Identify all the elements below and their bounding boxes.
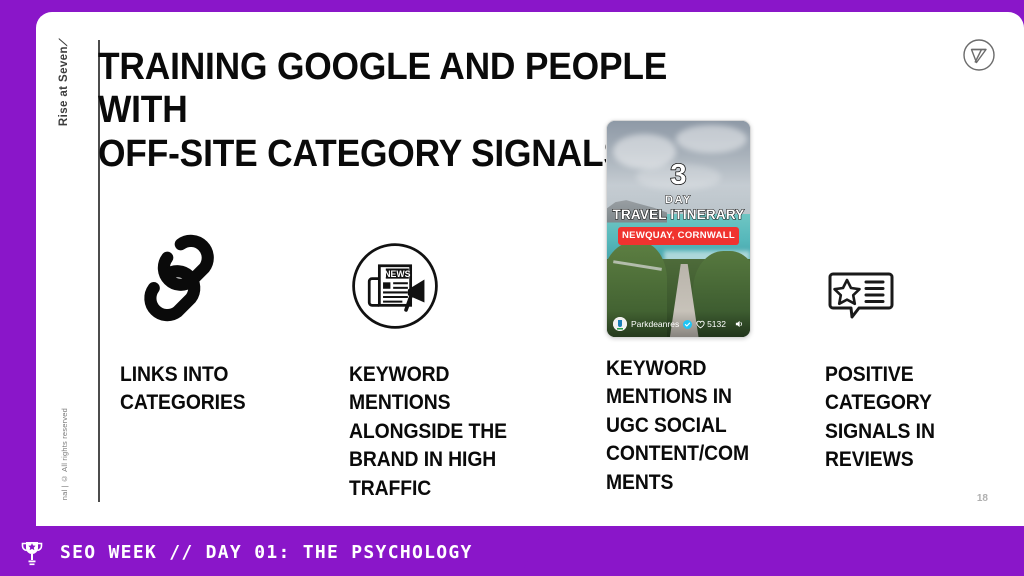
column-ugc-social-content: 3 DAY TRAVEL ITINERARY NEWQUAY, CORNWALL… bbox=[606, 120, 796, 496]
brand-vertical-label: Rise at Seven⟋ bbox=[58, 38, 70, 126]
like-count-value: 5132 bbox=[707, 319, 726, 329]
overlay-number: 3 bbox=[607, 161, 750, 190]
slide-card: Rise at Seven⟋ nal | © All rights reserv… bbox=[36, 12, 1024, 526]
like-count[interactable]: 5132 bbox=[696, 319, 726, 329]
chain-link-icon bbox=[120, 212, 320, 332]
heart-icon bbox=[696, 320, 705, 329]
sound-icon[interactable] bbox=[734, 319, 744, 329]
label-line-3: ALONGSIDE THE bbox=[349, 419, 507, 443]
brand-vertical-text: Rise at Seven bbox=[58, 46, 70, 126]
label-line-1: LINKS INTO bbox=[120, 362, 228, 386]
label-line-1: KEYWORD bbox=[606, 356, 706, 380]
legal-vertical-label: nal | © All rights reserved bbox=[60, 408, 69, 500]
label-line-5: TRAFFIC bbox=[349, 476, 431, 500]
label-line-2: MENTIONS bbox=[349, 390, 450, 414]
avatar[interactable] bbox=[613, 317, 627, 331]
label-line-4: CONTENT/COM bbox=[606, 441, 749, 465]
column-links-into-categories: LINKS INTO CATEGORIES bbox=[120, 212, 320, 417]
label-line-5: MENTS bbox=[606, 470, 673, 494]
footer-bar: SEO WEEK // DAY 01: THE PSYCHOLOGY bbox=[0, 529, 544, 576]
social-card-footer: Parkdeanreso... 5132 bbox=[607, 311, 750, 337]
column-keyword-mentions-traffic: NEWS KEYWORD MENTIONS ALONGSIDE T bbox=[349, 212, 564, 502]
overlay-location-badge: NEWQUAY, CORNWALL bbox=[618, 227, 739, 245]
label-line-1: KEYWORD bbox=[349, 362, 449, 386]
overlay-day: DAY bbox=[607, 194, 750, 206]
label-line-3: SIGNALS IN bbox=[825, 419, 935, 443]
label-line-2: CATEGORIES bbox=[120, 390, 246, 414]
title-line-1: TRAINING GOOGLE AND PEOPLE WITH bbox=[98, 46, 693, 133]
overlay-itinerary: TRAVEL ITINERARY bbox=[607, 207, 750, 222]
label-line-2: MENTIONS IN bbox=[606, 384, 732, 408]
column-label: POSITIVE CATEGORY SIGNALS IN REVIEWS bbox=[825, 360, 987, 474]
trophy-icon bbox=[20, 540, 44, 566]
rise-at-seven-logo-icon bbox=[962, 38, 996, 72]
page-title: TRAINING GOOGLE AND PEOPLE WITH OFF-SITE… bbox=[98, 46, 693, 176]
column-positive-review-signals: POSITIVE CATEGORY SIGNALS IN REVIEWS bbox=[825, 212, 1005, 474]
label-line-1: POSITIVE bbox=[825, 362, 914, 386]
page-number: 18 bbox=[977, 493, 988, 504]
brand-mark-glyph: ⟋ bbox=[58, 38, 70, 46]
social-username[interactable]: Parkdeanreso... bbox=[631, 319, 679, 329]
title-line-2: OFF-SITE CATEGORY SIGNALS bbox=[98, 133, 693, 176]
footer-label: SEO WEEK // DAY 01: THE PSYCHOLOGY bbox=[60, 542, 473, 563]
column-label: LINKS INTO CATEGORIES bbox=[120, 360, 300, 417]
social-video-card[interactable]: 3 DAY TRAVEL ITINERARY NEWQUAY, CORNWALL… bbox=[606, 120, 751, 338]
label-line-4: BRAND IN HIGH bbox=[349, 447, 496, 471]
label-line-3: UGC SOCIAL bbox=[606, 413, 727, 437]
label-line-4: REVIEWS bbox=[825, 447, 914, 471]
slide-background: Rise at Seven⟋ nal | © All rights reserv… bbox=[0, 0, 1024, 576]
svg-text:NEWS: NEWS bbox=[384, 269, 410, 279]
column-label: KEYWORD MENTIONS IN UGC SOCIAL CONTENT/C… bbox=[606, 354, 777, 496]
news-megaphone-icon: NEWS bbox=[349, 212, 564, 332]
review-star-bubble-icon bbox=[825, 212, 1005, 332]
verified-badge-icon bbox=[683, 320, 692, 329]
column-label: KEYWORD MENTIONS ALONGSIDE THE BRAND IN … bbox=[349, 360, 543, 502]
label-line-2: CATEGORY bbox=[825, 390, 932, 414]
